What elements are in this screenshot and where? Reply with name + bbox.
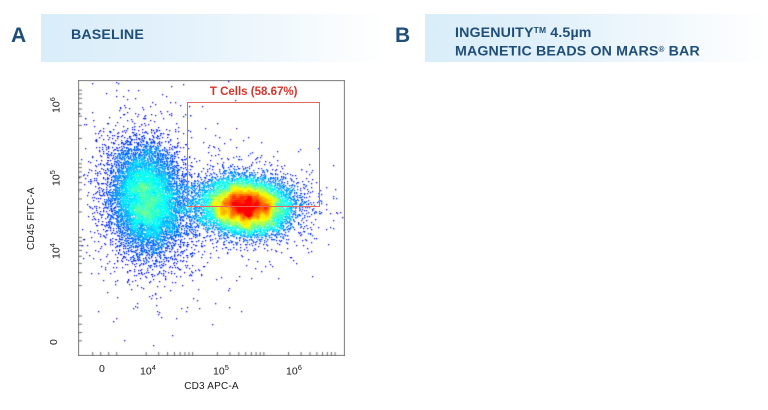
panel-a-plot: T Cells (58.67%) xyxy=(78,80,345,356)
panel-b: B INGENUITYTM 4.5µm MAGNETIC BEADS ON MA… xyxy=(384,0,768,410)
panel-a-x-tick-1e6: 106 xyxy=(286,363,302,378)
panel-a-y-tick-1e6: 106 xyxy=(48,97,63,113)
panel-a-gate-label: T Cells (58.67%) xyxy=(187,86,320,98)
panel-a-y-tick-1e5: 105 xyxy=(48,170,63,186)
panel-a-y-tick-0: 0 xyxy=(48,339,60,345)
panel-a: A BASELINE T Cells (58.67%) CD45 FITC-A … xyxy=(0,0,384,410)
panel-a-letter: A xyxy=(11,25,26,46)
panel-a-x-tick-1e5: 105 xyxy=(213,363,229,378)
panel-b-title-size: 4.5µm xyxy=(546,25,591,41)
panel-a-x-tick-1e4: 104 xyxy=(140,363,156,378)
panel-b-trademark-mark: TM xyxy=(534,25,547,35)
panel-a-header: A BASELINE xyxy=(0,14,384,62)
panel-b-header: B INGENUITYTM 4.5µm MAGNETIC BEADS ON MA… xyxy=(384,14,768,62)
panel-a-x-tick-0: 0 xyxy=(99,363,105,375)
panel-a-y-axis-title: CD45 FITC-A xyxy=(26,187,37,250)
panel-a-y-tick-1e4: 104 xyxy=(48,243,63,259)
panel-a-x-axis-title: CD3 APC-A xyxy=(78,381,345,392)
panel-b-banner: INGENUITYTM 4.5µm MAGNETIC BEADS ON MARS… xyxy=(425,14,768,62)
panel-a-banner: BASELINE xyxy=(41,14,384,62)
panel-b-title-line2: MAGNETIC BEADS ON MARS xyxy=(455,43,659,59)
panel-a-gate-box[interactable] xyxy=(187,102,320,207)
panel-b-title-line1: INGENUITY xyxy=(455,25,534,41)
panel-a-title: BASELINE xyxy=(71,27,380,44)
panel-b-title: INGENUITYTM 4.5µm MAGNETIC BEADS ON MARS… xyxy=(455,22,764,60)
panel-b-title-bar: BAR xyxy=(665,43,700,59)
flow-cytometry-figure: A BASELINE T Cells (58.67%) CD45 FITC-A … xyxy=(0,0,768,410)
panel-b-letter: B xyxy=(395,25,410,46)
panel-a-title-line1: BASELINE xyxy=(71,27,144,43)
